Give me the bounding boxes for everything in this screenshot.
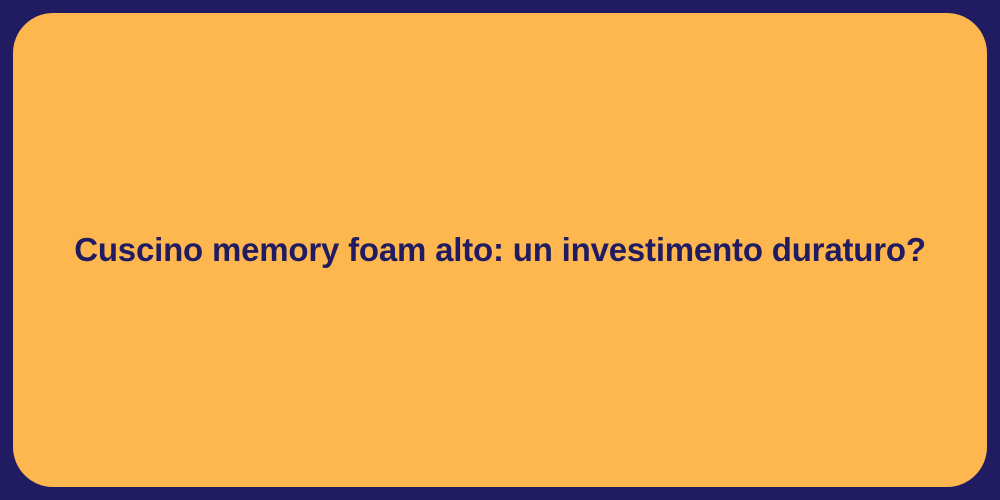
banner-frame: Cuscino memory foam alto: un investiment… xyxy=(0,0,1000,500)
banner-panel: Cuscino memory foam alto: un investiment… xyxy=(13,13,987,487)
banner-headline: Cuscino memory foam alto: un investiment… xyxy=(74,229,926,270)
